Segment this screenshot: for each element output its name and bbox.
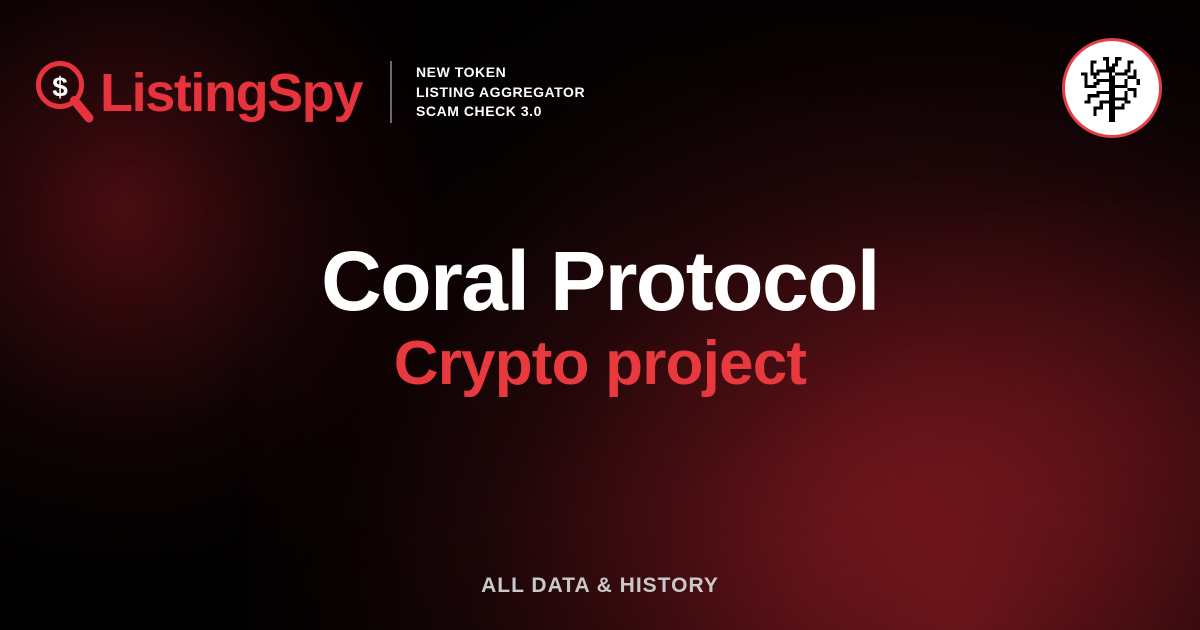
brand-logo[interactable]: $ ListingSpy <box>36 61 362 123</box>
magnifier-dollar-icon: $ <box>36 61 94 123</box>
token-logo-badge <box>1062 38 1162 138</box>
page-title: Coral Protocol <box>0 238 1200 325</box>
header-divider <box>390 61 392 123</box>
brand-name: ListingSpy <box>100 66 362 120</box>
og-card: $ ListingSpy NEW TOKEN LISTING AGGREGATO… <box>0 0 1200 630</box>
page-subtitle: Crypto project <box>0 331 1200 396</box>
tagline: NEW TOKEN LISTING AGGREGATOR SCAM CHECK … <box>416 64 585 120</box>
tagline-line-3: SCAM CHECK 3.0 <box>416 103 585 120</box>
tagline-line-2: LISTING AGGREGATOR <box>416 84 585 101</box>
footer-note: ALL DATA & HISTORY <box>0 574 1200 598</box>
coral-branch-icon <box>1075 51 1149 125</box>
hero-section: Coral Protocol Crypto project <box>0 238 1200 396</box>
tagline-line-1: NEW TOKEN <box>416 64 585 81</box>
svg-text:$: $ <box>52 72 68 103</box>
header: $ ListingSpy NEW TOKEN LISTING AGGREGATO… <box>36 52 585 132</box>
